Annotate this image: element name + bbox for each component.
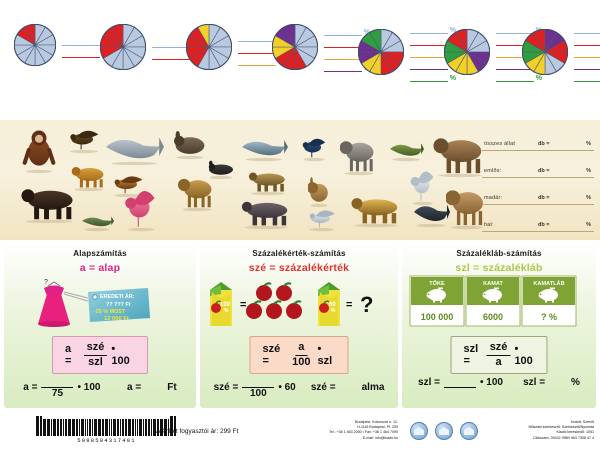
blank-rule[interactable] [410, 69, 448, 70]
animal-flamingo [124, 182, 158, 232]
animal-band: összes állatdb =%emlős:db =%madár:db =%h… [0, 120, 600, 240]
stat-percent-label: % [586, 141, 591, 147]
animal-elephant [432, 130, 488, 178]
blank-rule[interactable] [410, 57, 448, 58]
blank-rule[interactable] [574, 33, 600, 34]
piggy-bank-cards: TŐKE100 000KAMAT6000KAMATLÁB? % [402, 274, 596, 332]
pie-unit-4: %%%% [272, 24, 370, 75]
stat-db-label: db = [538, 195, 549, 201]
exercise-denominator: 100 [242, 388, 274, 400]
panel-subtitle: szl = százalékláb [402, 262, 596, 274]
formula-rhs: • 100 [514, 343, 534, 367]
formula-lhs: szé = [263, 343, 286, 367]
blank-rule[interactable] [410, 45, 448, 46]
formula-box: a = szé szl • 100 [52, 336, 148, 374]
svg-text:KAMATLÁB: KAMATLÁB [533, 280, 564, 287]
svg-text:KAMAT: KAMAT [483, 281, 503, 287]
blank-rule[interactable] [574, 69, 600, 70]
animal-tuna [240, 136, 288, 162]
svg-text:?: ? [360, 292, 373, 317]
svg-text:%: % [331, 308, 336, 314]
animal-rabbit [308, 176, 330, 208]
pie-unit-2: %% [100, 24, 198, 75]
svg-text:12 000 Ft: 12 000 Ft [104, 316, 129, 322]
panel-subtitle: szé = százalékérték [200, 262, 398, 274]
stat-label: madár: [484, 195, 502, 201]
animal-orangutan [22, 130, 56, 174]
formula-box: szé = a 100 • szl [250, 336, 349, 374]
stat-row-0[interactable]: összes állatdb =% [482, 124, 594, 151]
pie-6 [444, 29, 490, 80]
dress-illustration: ? EREDETI ÁR: ?? ??? Ft -25 % MOST 1 [4, 274, 196, 332]
formula-lhs: a = [65, 343, 80, 367]
svg-text:=: = [240, 299, 246, 311]
svg-text:?? ??? Ft: ?? ??? Ft [106, 302, 131, 308]
blank-rule[interactable] [574, 81, 600, 82]
formula-rhs: • szl [318, 343, 336, 367]
stat-db-label: db = [538, 168, 549, 174]
svg-text:TŐKE: TŐKE [429, 280, 445, 287]
pie-3 [186, 24, 232, 75]
svg-text:=: = [346, 299, 352, 311]
exercise-lhs: szé = [214, 382, 239, 393]
exercise-lhs: szl = [418, 377, 440, 388]
svg-text:-25 % MOST: -25 % MOST [94, 309, 126, 315]
exercise-unit: % [571, 377, 580, 388]
exercise-result-lhs: szé = [311, 382, 336, 393]
stat-row-1[interactable]: emlős:db =% [482, 151, 594, 178]
stat-label: hal: [484, 222, 494, 228]
exercise-numerator-blank[interactable] [444, 375, 476, 388]
animal-deer [178, 172, 216, 212]
svg-text:6000: 6000 [483, 312, 503, 322]
pie-1 [14, 24, 56, 71]
blank-rule[interactable] [152, 47, 190, 48]
publisher-info: Budapest, Kolozsvár u. 12.H-1116 Budapes… [290, 420, 398, 441]
formula-denominator: 100 [289, 356, 313, 369]
pie-2 [100, 24, 146, 75]
blank-rule[interactable] [62, 57, 100, 58]
animal-stats-table: összes állatdb =%emlős:db =%madár:db =%h… [482, 124, 594, 232]
blank-rule[interactable] [324, 35, 362, 36]
blank-rule[interactable] [410, 33, 448, 34]
pie-unit-5: %%%%% [358, 24, 456, 84]
formula-box: szl = szé a • 100 [451, 336, 548, 374]
exercise-unit: alma [362, 382, 385, 393]
pie-chart-band: %%%%%%%%%%%%%%%%%%%%%%%%%% [0, 0, 600, 120]
animal-leopard [348, 192, 404, 228]
panel-title: Alapszámítás [4, 249, 196, 258]
percent-blank-row[interactable]: % [574, 72, 600, 84]
panel-title: Százalékláb-számítás [402, 249, 596, 258]
blank-rule[interactable] [238, 41, 276, 42]
price-text: Ajánlott fogyasztói ár: 299 Ft [156, 428, 238, 435]
publisher-line: E-mail: info@kiado.hu [290, 436, 398, 441]
svg-text:EREDETI ÁR:: EREDETI ÁR: [100, 293, 135, 300]
panel-subtitle: a = alap [4, 262, 196, 274]
percent-blanks: %%%%% [574, 24, 600, 84]
pie-unit-7: %%%%% [522, 24, 600, 84]
animal-swan [306, 206, 338, 232]
blank-rule[interactable] [574, 45, 600, 46]
formula-denominator: szl [85, 356, 106, 369]
exercise-denominator: 75 [41, 388, 73, 400]
exercise-mid: • 100 [480, 377, 503, 388]
exercise-numerator-blank[interactable] [242, 375, 274, 388]
stat-percent-label: % [586, 195, 591, 201]
animal-hippo [238, 196, 294, 230]
panel-exercise: a = 75 • 100 a = Ft [4, 375, 196, 400]
blank-rule[interactable] [238, 53, 276, 54]
animal-eagle [66, 126, 102, 154]
logo-icon-2 [435, 422, 453, 440]
pie-5 [358, 29, 404, 80]
animal-wolf [340, 134, 378, 176]
panel-exercise: szé = 100 • 60 szé = alma [200, 375, 398, 400]
blank-rule[interactable] [238, 65, 276, 66]
exercise-mid: • 60 [278, 382, 295, 393]
poster-root: %%%%%%%%%%%%%%%%%%%%%%%%%% összes állatd… [0, 0, 600, 450]
percent-blank-row[interactable]: % [574, 36, 600, 48]
stat-percent-label: % [586, 222, 591, 228]
panel-szazalekláb: Százalékláb-számítás szl = százalékláb T… [402, 242, 596, 408]
publisher-logos [410, 422, 478, 440]
formula-lhs: szl = [464, 343, 483, 367]
svg-text:100 000: 100 000 [421, 312, 454, 322]
formula-rhs: • 100 [111, 343, 135, 367]
exercise-denominator-blank[interactable] [444, 388, 476, 389]
pie-unit-3: %%% [186, 24, 284, 75]
percent-blank-row[interactable]: % [574, 60, 600, 72]
percent-blank-row[interactable]: % [574, 48, 600, 60]
stat-label: emlős: [484, 168, 501, 174]
formula-denominator: a [493, 356, 505, 369]
animal-bear [18, 182, 80, 224]
pie-7 [522, 29, 568, 80]
credits-info: Íródott: SzerzőMűszaki szerkesztő: Szerk… [476, 420, 594, 441]
barcode-number: 5998504317401 [36, 437, 177, 444]
exercise-mid: • 100 [77, 382, 100, 393]
stat-percent-label: % [586, 168, 591, 174]
animal-shark [104, 132, 164, 166]
svg-text:? %: ? % [541, 312, 557, 322]
formula-numerator: a [295, 342, 307, 356]
exercise-unit: Ft [167, 382, 176, 393]
blank-rule[interactable] [324, 71, 362, 72]
pie-4 [272, 24, 318, 75]
blank-rule[interactable] [324, 47, 362, 48]
blank-rule[interactable] [324, 59, 362, 60]
animal-perch [388, 140, 424, 162]
animal-trout [80, 214, 114, 232]
panel-exercise: szl = • 100 szl = % [402, 375, 596, 389]
stat-db-label: db = [538, 222, 549, 228]
exercise-result-lhs: szl = [523, 377, 545, 388]
exercise-lhs: a = [23, 382, 37, 393]
percent-blank-row[interactable]: % [574, 24, 600, 36]
exercise-result-lhs: a = [127, 382, 141, 393]
animal-swallow [300, 134, 328, 162]
animal-boar [246, 168, 290, 196]
formula-numerator: szé [84, 342, 108, 356]
blank-rule[interactable] [574, 57, 600, 58]
footer: 5998504317401 Ajánlott fogyasztói ár: 29… [0, 410, 600, 450]
blank-rule[interactable] [152, 59, 190, 60]
panel-alapszamitas: Alapszámítás a = alap ? EREDETI ÁR: [4, 242, 196, 408]
formula-panels: Alapszámítás a = alap ? EREDETI ÁR: [0, 240, 600, 410]
stat-db-label: db = [538, 141, 549, 147]
animal-beaver [172, 130, 208, 160]
blank-rule[interactable] [62, 45, 100, 46]
pie-unit-1: %% [14, 24, 108, 71]
logo-icon-1 [410, 422, 428, 440]
stat-row-2[interactable]: madár:db =% [482, 178, 594, 205]
svg-text:%: % [224, 308, 229, 314]
exercise-numerator-blank[interactable] [41, 375, 73, 388]
stat-label: összes állat [484, 141, 515, 147]
juice-apples-illustration: 100 % = [200, 274, 398, 332]
blank-rule[interactable] [410, 81, 448, 82]
formula-numerator: szé [487, 342, 511, 356]
panel-title: Százalékérték-számítás [200, 249, 398, 258]
stat-row-3[interactable]: hal:db =% [482, 205, 594, 232]
panel-szazalekertek: Százalékérték-számítás szé = százalékért… [200, 242, 398, 408]
svg-text:?: ? [44, 279, 48, 286]
credit-line: Cikkszám: 39432 ISBN 963 7308 47 4 [476, 436, 594, 441]
